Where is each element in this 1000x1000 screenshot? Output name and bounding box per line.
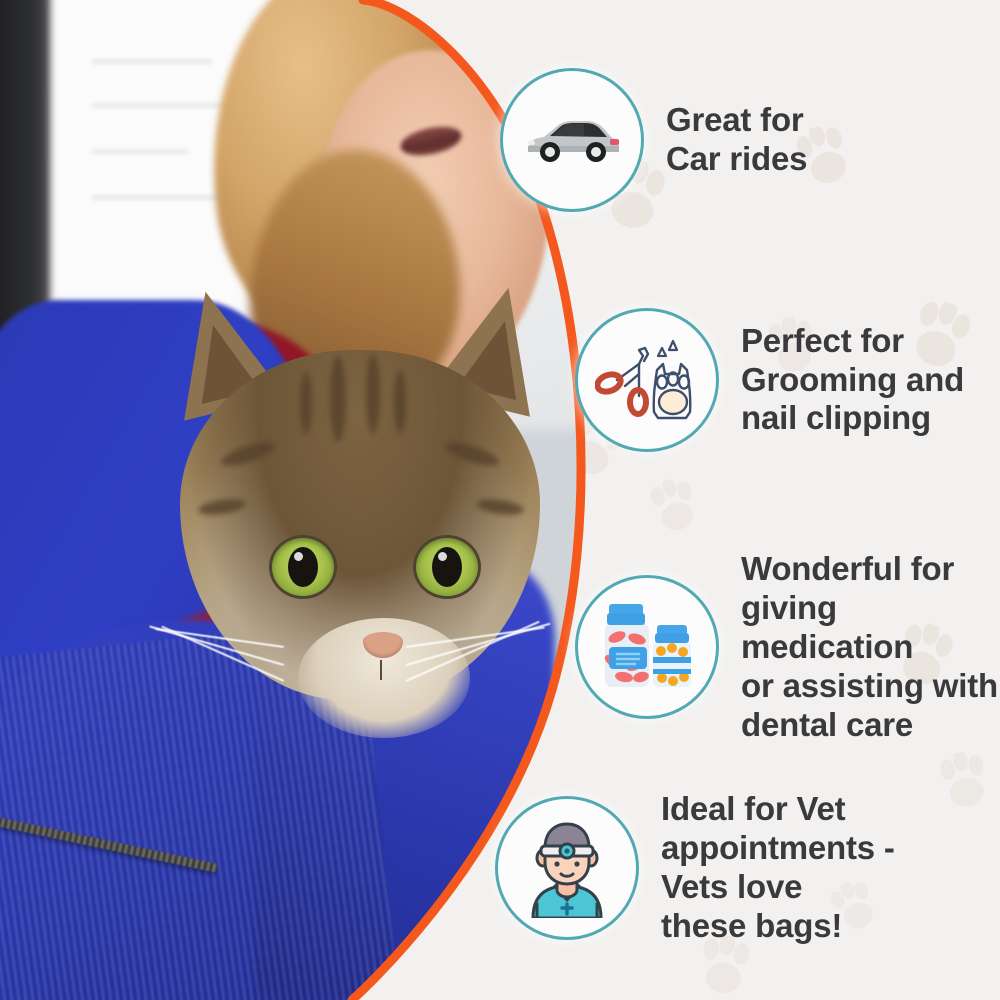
pill-bottles-icon xyxy=(575,575,719,719)
feature-label: Wonderful for giving medication or assis… xyxy=(741,550,1000,745)
feature-label: Ideal for Vet appointments - Vets love t… xyxy=(661,790,895,946)
feature-list: Great for Car rides xyxy=(480,0,1000,1000)
feature-item-vet[interactable]: Ideal for Vet appointments - Vets love t… xyxy=(495,790,895,946)
car-icon xyxy=(500,68,644,212)
infographic-canvas: Great for Car rides xyxy=(0,0,1000,1000)
feature-item-medication[interactable]: Wonderful for giving medication or assis… xyxy=(575,550,1000,745)
feature-label: Great for Car rides xyxy=(666,101,807,179)
nail-clippers-paw-icon xyxy=(575,308,719,452)
feature-label: Perfect for Grooming and nail clipping xyxy=(741,322,964,439)
feature-item-car-rides[interactable]: Great for Car rides xyxy=(500,68,807,212)
feature-item-grooming[interactable]: Perfect for Grooming and nail clipping xyxy=(575,308,964,452)
veterinarian-icon xyxy=(495,796,639,940)
